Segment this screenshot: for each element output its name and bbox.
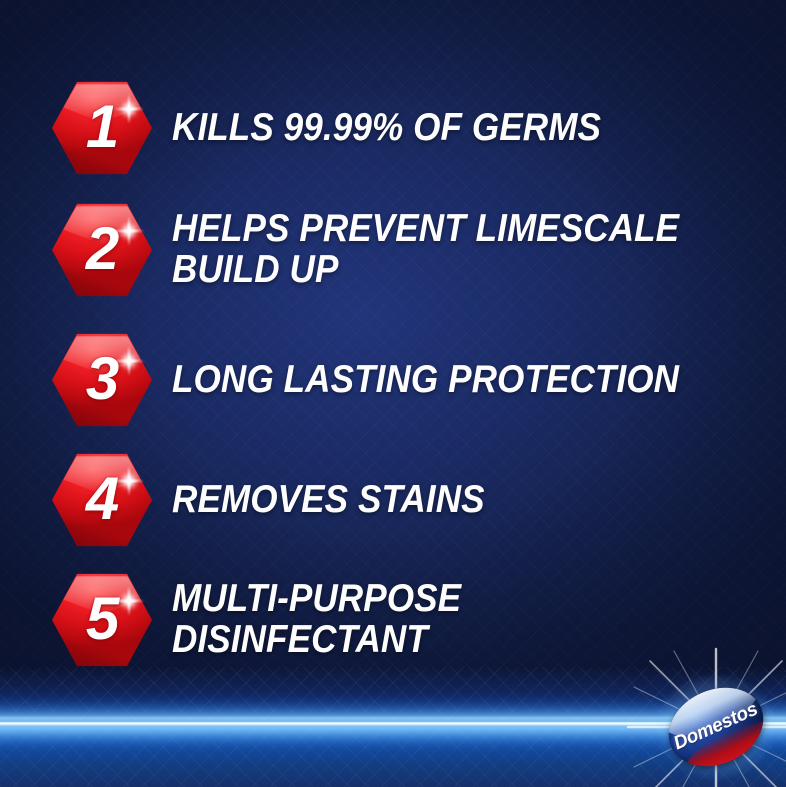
feature-row: 2 HELPS PREVENT LIMESCALE BUILD UP [0, 196, 786, 304]
badge-number: 3 [52, 332, 152, 428]
promo-poster: 1 KILLS 99.99% OF GERMS 2 HELPS PREVENT … [0, 0, 786, 787]
feature-headline: LONG LASTING PROTECTION [172, 360, 679, 401]
badge-number: 1 [52, 80, 152, 176]
badge-number: 2 [52, 202, 152, 298]
feature-headline: HELPS PREVENT LIMESCALE BUILD UP [172, 209, 679, 290]
feature-number-badge: 5 [52, 572, 152, 668]
feature-headline: KILLS 99.99% OF GERMS [172, 108, 601, 149]
feature-row: 4 REMOVES STAINS [0, 450, 786, 550]
feature-row: 1 KILLS 99.99% OF GERMS [0, 78, 786, 178]
feature-number-badge: 4 [52, 452, 152, 548]
feature-headline: REMOVES STAINS [172, 480, 485, 521]
feature-list: 1 KILLS 99.99% OF GERMS 2 HELPS PREVENT … [0, 0, 786, 690]
feature-row: 3 LONG LASTING PROTECTION [0, 330, 786, 430]
badge-number: 4 [52, 452, 152, 548]
feature-number-badge: 3 [52, 332, 152, 428]
feature-number-badge: 1 [52, 80, 152, 176]
feature-number-badge: 2 [52, 202, 152, 298]
brand-logo: Domestos [654, 673, 778, 781]
badge-number: 5 [52, 572, 152, 668]
